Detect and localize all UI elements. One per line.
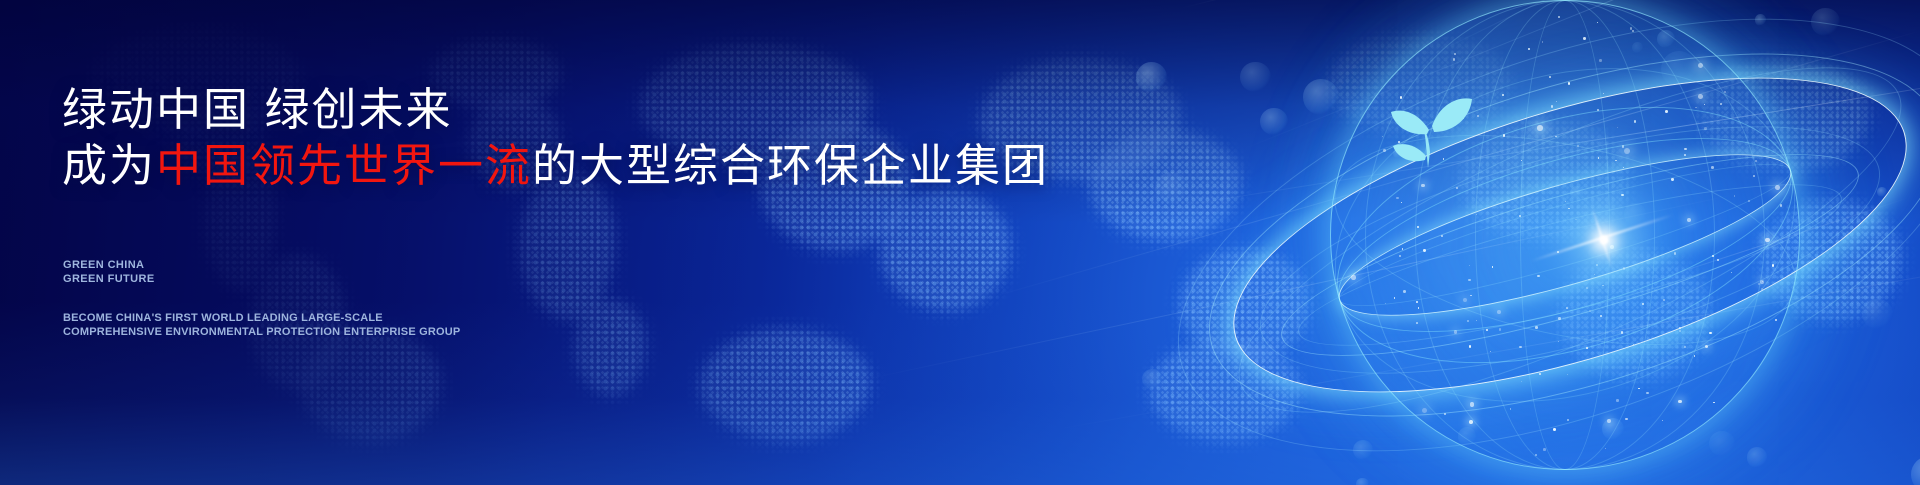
- sprout-icon: [1382, 82, 1478, 174]
- kicker-line-1: GREEN CHINA: [63, 258, 155, 272]
- text-block: 绿动中国 绿创未来 成为中国领先世界一流的大型综合环保企业集团 GREEN CH…: [0, 0, 1100, 485]
- subline-line-2: COMPREHENSIVE ENVIRONMENTAL PROTECTION E…: [63, 325, 460, 339]
- headline-line-1: 绿动中国 绿创未来: [62, 84, 453, 135]
- kicker-text: GREEN CHINA GREEN FUTURE: [63, 258, 155, 286]
- headline-line-2-suffix: 的大型综合环保企业集团: [532, 140, 1049, 191]
- headline-highlight: 中国领先世界一流: [156, 140, 532, 191]
- subline-line-1: BECOME CHINA'S FIRST WORLD LEADING LARGE…: [63, 311, 460, 325]
- headline-line-2-prefix: 成为: [62, 140, 156, 191]
- hero-banner: 绿动中国 绿创未来 成为中国领先世界一流的大型综合环保企业集团 GREEN CH…: [0, 0, 1920, 485]
- headline-line-2: 成为中国领先世界一流的大型综合环保企业集团: [62, 138, 1062, 194]
- globe-rim: [1330, 0, 1800, 470]
- subline-text: BECOME CHINA'S FIRST WORLD LEADING LARGE…: [63, 311, 460, 339]
- headline: 绿动中国 绿创未来 成为中国领先世界一流的大型综合环保企业集团: [62, 82, 1062, 194]
- globe-graphic: [1290, 0, 1850, 485]
- kicker-line-2: GREEN FUTURE: [63, 272, 155, 286]
